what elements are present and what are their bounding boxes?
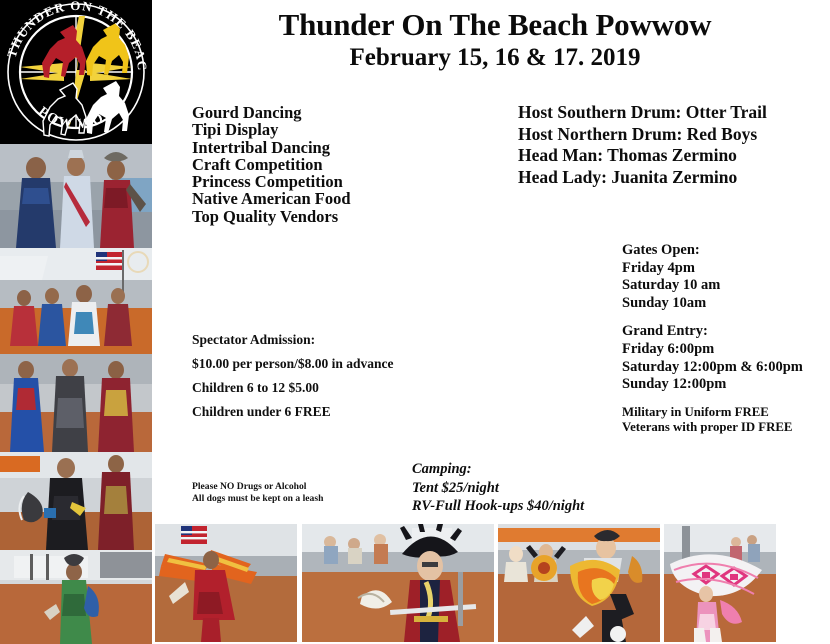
dancer-black-roach-headdress-photo <box>302 524 494 642</box>
dancers-with-feather-fan-photo <box>0 452 152 550</box>
activity-item: Craft Competition <box>192 156 351 173</box>
schedule-spacer-2 <box>622 394 803 405</box>
spectator-admission-block: Spectator Admission: $10.00 per person/$… <box>192 328 394 424</box>
activities-list: Gourd Dancing Tipi Display Intertribal D… <box>192 104 351 225</box>
grand-entry-line: Saturday 12:00pm & 6:00pm <box>622 359 803 377</box>
rules-block: Please NO Drugs or Alcohol All dogs must… <box>192 481 323 506</box>
poster-subtitle: February 15, 16 & 17. 2019 <box>160 44 830 72</box>
activity-item: Top Quality Vendors <box>192 208 351 225</box>
bottom-photo-1 <box>155 524 297 642</box>
young-boy-dancer-photo <box>0 550 152 644</box>
poster-title: Thunder On The Beach Powwow <box>160 8 830 43</box>
rule-no-drugs-alcohol: Please NO Drugs or Alcohol <box>192 481 323 493</box>
left-photo-1 <box>0 144 152 248</box>
left-photo-rail: THUNDER ON THE BEACH POW WOW <box>0 0 152 644</box>
host-southern-drum: Host Southern Drum: Otter Trail <box>518 102 767 124</box>
left-photo-4 <box>0 452 152 550</box>
gates-open-line: Friday 4pm <box>622 260 803 278</box>
bottom-photo-4 <box>664 524 776 642</box>
powwow-dancers-photo <box>0 144 152 248</box>
bottom-photo-2 <box>302 524 494 642</box>
admission-heading: Spectator Admission: <box>192 328 394 352</box>
activity-item: Princess Competition <box>192 173 351 190</box>
grand-entry-flag-photo <box>0 248 152 354</box>
camping-rv-rate: RV-Full Hook-ups $40/night <box>412 497 584 516</box>
powwow-logo: THUNDER ON THE BEACH POW WOW <box>0 0 152 144</box>
left-photo-3 <box>0 354 152 452</box>
military-free-line: Military in Uniform FREE <box>622 405 803 420</box>
logo-medicine-wheel-icon: THUNDER ON THE BEACH POW WOW <box>0 0 152 144</box>
veterans-free-line: Veterans with proper ID FREE <box>622 420 803 435</box>
fancy-dancer-red-orange-photo <box>155 524 297 642</box>
schedule-block: Gates Open: Friday 4pm Saturday 10 am Su… <box>622 242 803 436</box>
grass-dancer-yellow-orange-photo <box>498 524 660 642</box>
admission-line: $10.00 per person/$8.00 in advance <box>192 352 394 376</box>
grand-entry-line: Friday 6:00pm <box>622 341 803 359</box>
admission-line: Children under 6 FREE <box>192 400 394 424</box>
activity-item: Native American Food <box>192 190 351 207</box>
bottom-photo-3 <box>498 524 660 642</box>
admission-line: Children 6 to 12 $5.00 <box>192 376 394 400</box>
rule-dogs-leash: All dogs must be kept on a leash <box>192 493 323 505</box>
left-photo-5 <box>0 550 152 644</box>
powwow-poster: THUNDER ON THE BEACH POW WOW <box>0 0 830 644</box>
shawl-dancer-pink-white-photo <box>664 524 776 642</box>
activity-item: Tipi Display <box>192 121 351 138</box>
grand-entry-line: Sunday 12:00pm <box>622 376 803 394</box>
gates-open-heading: Gates Open: <box>622 242 803 260</box>
camping-tent-rate: Tent $25/night <box>412 479 584 498</box>
camping-heading: Camping: <box>412 460 584 479</box>
camping-block: Camping: Tent $25/night RV-Full Hook-ups… <box>412 460 584 516</box>
host-staff-list: Host Southern Drum: Otter Trail Host Nor… <box>518 102 767 188</box>
head-lady: Head Lady: Juanita Zermino <box>518 167 767 189</box>
left-photo-2 <box>0 248 152 354</box>
gates-open-line: Saturday 10 am <box>622 277 803 295</box>
schedule-spacer <box>622 312 803 323</box>
grand-entry-heading: Grand Entry: <box>622 323 803 341</box>
activity-item: Intertribal Dancing <box>192 139 351 156</box>
host-northern-drum: Host Northern Drum: Red Boys <box>518 124 767 146</box>
women-dancers-photo <box>0 354 152 452</box>
gates-open-line: Sunday 10am <box>622 295 803 313</box>
activity-item: Gourd Dancing <box>192 104 351 121</box>
head-man: Head Man: Thomas Zermino <box>518 145 767 167</box>
